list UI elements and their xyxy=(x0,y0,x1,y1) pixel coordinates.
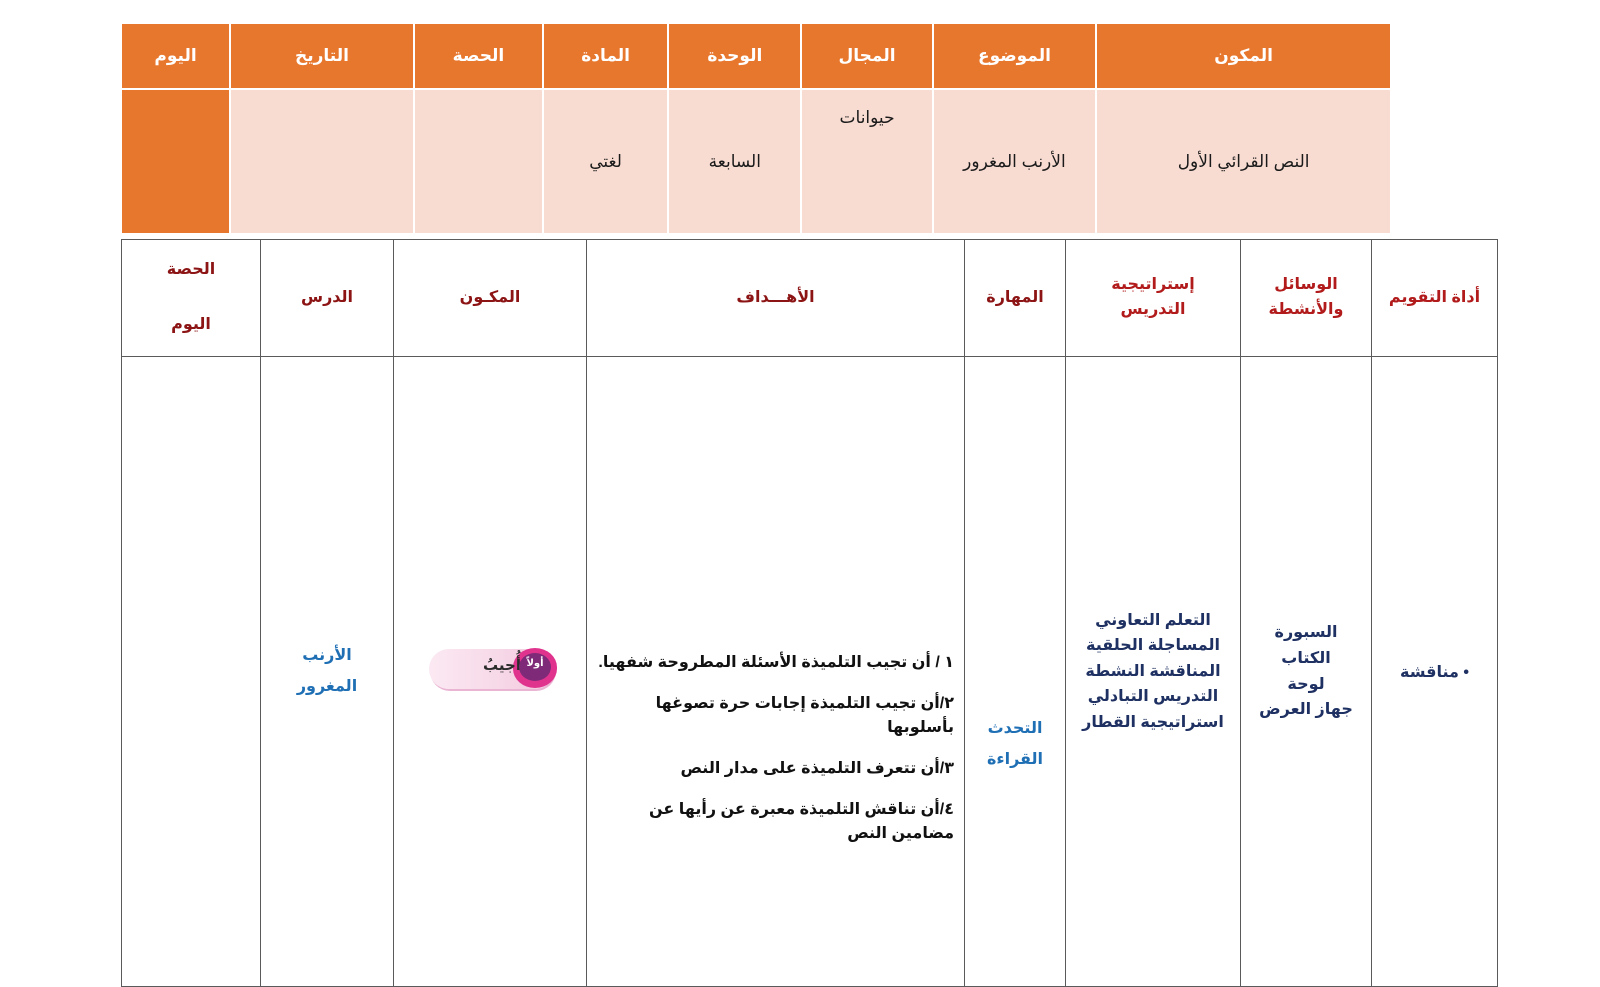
strategy-item-train-strategy: استراتيجية القطار xyxy=(1072,710,1234,736)
cell-skills[interactable]: التحدث القراءة xyxy=(965,357,1066,987)
strategy-item-active-discussion: المناقشة النشطة xyxy=(1072,659,1234,685)
info-header-period: الحصة xyxy=(415,24,542,88)
plan-header-period-line1: الحصة xyxy=(128,258,254,283)
means-item-board: السبورة xyxy=(1247,620,1365,646)
info-value-period[interactable] xyxy=(415,90,542,233)
info-header-component: المكون xyxy=(1097,24,1390,88)
strategy-item-reciprocal-teaching: التدريس التبادلي xyxy=(1072,684,1234,710)
cell-component[interactable]: أُجيبُ أولاً xyxy=(394,357,587,987)
plan-header-means-line2: والأنشطة xyxy=(1247,298,1365,323)
cell-period-day[interactable] xyxy=(122,357,261,987)
objective-item-1: ١ / أن تجيب التلميذة الأسئلة المطروحة شف… xyxy=(597,651,954,675)
cell-means-activities[interactable]: السبورة الكتاب لوحة جهاز العرض xyxy=(1241,357,1372,987)
info-value-day[interactable] xyxy=(122,90,229,233)
lesson-plan-page: المكون الموضوع المجال الوحدة المادة الحص… xyxy=(0,0,1600,900)
objective-item-2: ٢/أن تجيب التلميذة إجابات حرة تصوغها بأس… xyxy=(597,692,954,740)
means-item-book: الكتاب xyxy=(1247,646,1365,672)
info-value-subject[interactable]: لغتي xyxy=(544,90,667,233)
plan-header-lesson: الدرس xyxy=(261,240,394,357)
objective-item-3: ٣/أن تتعرف التلميذة على مدار النص xyxy=(597,757,954,781)
info-value-topic[interactable]: الأرنب المغرور xyxy=(934,90,1096,233)
table-row: • مناقشة السبورة الكتاب لوحة جهاز العرض … xyxy=(122,357,1498,987)
info-header-unit: الوحدة xyxy=(669,24,800,88)
answer-badge[interactable]: أُجيبُ أولاً xyxy=(425,647,555,691)
plan-header-objectives: الأهـــداف xyxy=(587,240,965,357)
badge-oval-label: أولاً xyxy=(521,659,549,669)
plan-header-strategy-line2: التدريس xyxy=(1072,298,1234,323)
cell-teaching-strategies[interactable]: التعلم التعاوني المساجلة الحلقية المناقش… xyxy=(1066,357,1241,987)
plan-header-assessment-tool: أداة التقويم xyxy=(1372,240,1498,357)
assessment-tool-item: • مناقشة xyxy=(1400,664,1469,681)
skill-item-speaking: التحدث xyxy=(971,714,1059,744)
means-item-chart: لوحة xyxy=(1247,672,1365,698)
cell-lesson[interactable]: الأرنب المغرور xyxy=(261,357,394,987)
plan-header-means-line1: الوسائل xyxy=(1247,273,1365,298)
plan-header-means-activities: الوسائل والأنشطة xyxy=(1241,240,1372,357)
info-header-day: اليوم xyxy=(122,24,229,88)
skill-item-reading: القراءة xyxy=(971,745,1059,775)
info-header-topic: الموضوع xyxy=(934,24,1096,88)
plan-header-period-day: الحصة اليوم xyxy=(122,240,261,357)
info-header-field: المجال xyxy=(802,24,931,88)
info-value-field[interactable]: حيوانات xyxy=(802,90,931,233)
strategy-item-cooperative-learning: التعلم التعاوني xyxy=(1072,608,1234,634)
cell-assessment-tool[interactable]: • مناقشة xyxy=(1372,357,1498,987)
info-value-date[interactable] xyxy=(231,90,413,233)
objective-item-4: ٤/أن تناقش التلميذة معبرة عن رأيها عن مض… xyxy=(597,798,954,846)
plan-header-period-line2: اليوم xyxy=(128,313,254,338)
plan-header-row: أداة التقويم الوسائل والأنشطة إستراتيجية… xyxy=(122,240,1498,357)
plan-header-component: المكـون xyxy=(394,240,587,357)
badge-label: أُجيبُ xyxy=(483,656,521,674)
plan-header-strategy: إستراتيجية التدريس xyxy=(1066,240,1241,357)
lesson-title-line1: الأرنب xyxy=(267,641,387,671)
cell-objectives[interactable]: ١ / أن تجيب التلميذة الأسئلة المطروحة شف… xyxy=(587,357,965,987)
lesson-info-table: المكون الموضوع المجال الوحدة المادة الحص… xyxy=(120,22,1392,235)
info-value-component[interactable]: النص القرائي الأول xyxy=(1097,90,1390,233)
lesson-info-header-row: المكون الموضوع المجال الوحدة المادة الحص… xyxy=(122,24,1390,88)
lesson-info-body-row: النص القرائي الأول الأرنب المغرور حيوانا… xyxy=(122,90,1390,233)
lesson-title-line2: المغرور xyxy=(267,672,387,702)
strategy-item-circular-debate: المساجلة الحلقية xyxy=(1072,633,1234,659)
lesson-plan-table: أداة التقويم الوسائل والأنشطة إستراتيجية… xyxy=(121,239,1498,987)
plan-header-strategy-line1: إستراتيجية xyxy=(1072,273,1234,298)
info-value-unit[interactable]: السابعة xyxy=(669,90,800,233)
info-header-subject: المادة xyxy=(544,24,667,88)
means-item-projector: جهاز العرض xyxy=(1247,697,1365,723)
plan-body: • مناقشة السبورة الكتاب لوحة جهاز العرض … xyxy=(122,357,1498,987)
plan-header-skill: المهارة xyxy=(965,240,1066,357)
info-header-date: التاريخ xyxy=(231,24,413,88)
